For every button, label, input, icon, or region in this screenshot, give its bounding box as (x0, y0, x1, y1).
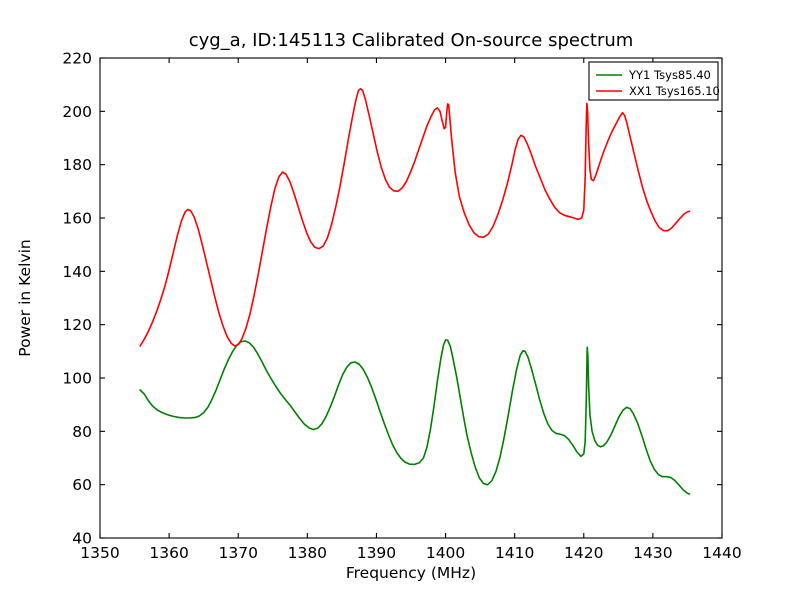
x-tick-label: 1410 (495, 544, 534, 562)
x-tick-label: 1390 (357, 544, 396, 562)
y-tick-label: 60 (72, 476, 92, 494)
x-tick-label: 1360 (149, 544, 188, 562)
y-tick-label: 40 (72, 530, 92, 548)
x-tick-label: 1380 (288, 544, 327, 562)
y-tick-label: 120 (62, 316, 92, 334)
y-tick-label: 220 (62, 50, 92, 68)
y-tick-label: 140 (62, 263, 92, 281)
y-axis-title: Power in Kelvin (16, 239, 34, 356)
y-tick-label: 180 (62, 156, 92, 174)
series-line-xx1 (140, 89, 689, 346)
y-tick-label: 160 (62, 210, 92, 228)
x-axis-title: Frequency (MHz) (346, 564, 476, 582)
data-series-group (140, 89, 689, 494)
y-tick-label: 80 (72, 423, 92, 441)
legend: YY1 Tsys85.40 XX1 Tsys165.10 (589, 62, 720, 100)
y-tick-label: 200 (62, 103, 92, 121)
y-tick-label: 100 (62, 370, 92, 388)
y-tick-labels: 406080100120140160180200220 (62, 50, 92, 548)
x-tick-labels: 1350136013701380139014001410142014301440 (80, 544, 741, 562)
series-line-yy1 (140, 340, 689, 494)
x-tick-label: 1370 (218, 544, 257, 562)
matplotlib-figure: cyg_a, ID:145113 Calibrated On-source sp… (0, 0, 800, 600)
chart-title: cyg_a, ID:145113 Calibrated On-source sp… (189, 30, 634, 51)
x-tick-label: 1430 (633, 544, 672, 562)
x-tick-label: 1440 (702, 544, 741, 562)
x-tick-label: 1400 (426, 544, 465, 562)
x-tick-label: 1420 (564, 544, 603, 562)
legend-label-xx1: XX1 Tsys165.10 (629, 84, 720, 98)
legend-label-yy1: YY1 Tsys85.40 (628, 68, 711, 82)
spectrum-plot: cyg_a, ID:145113 Calibrated On-source sp… (0, 0, 800, 600)
